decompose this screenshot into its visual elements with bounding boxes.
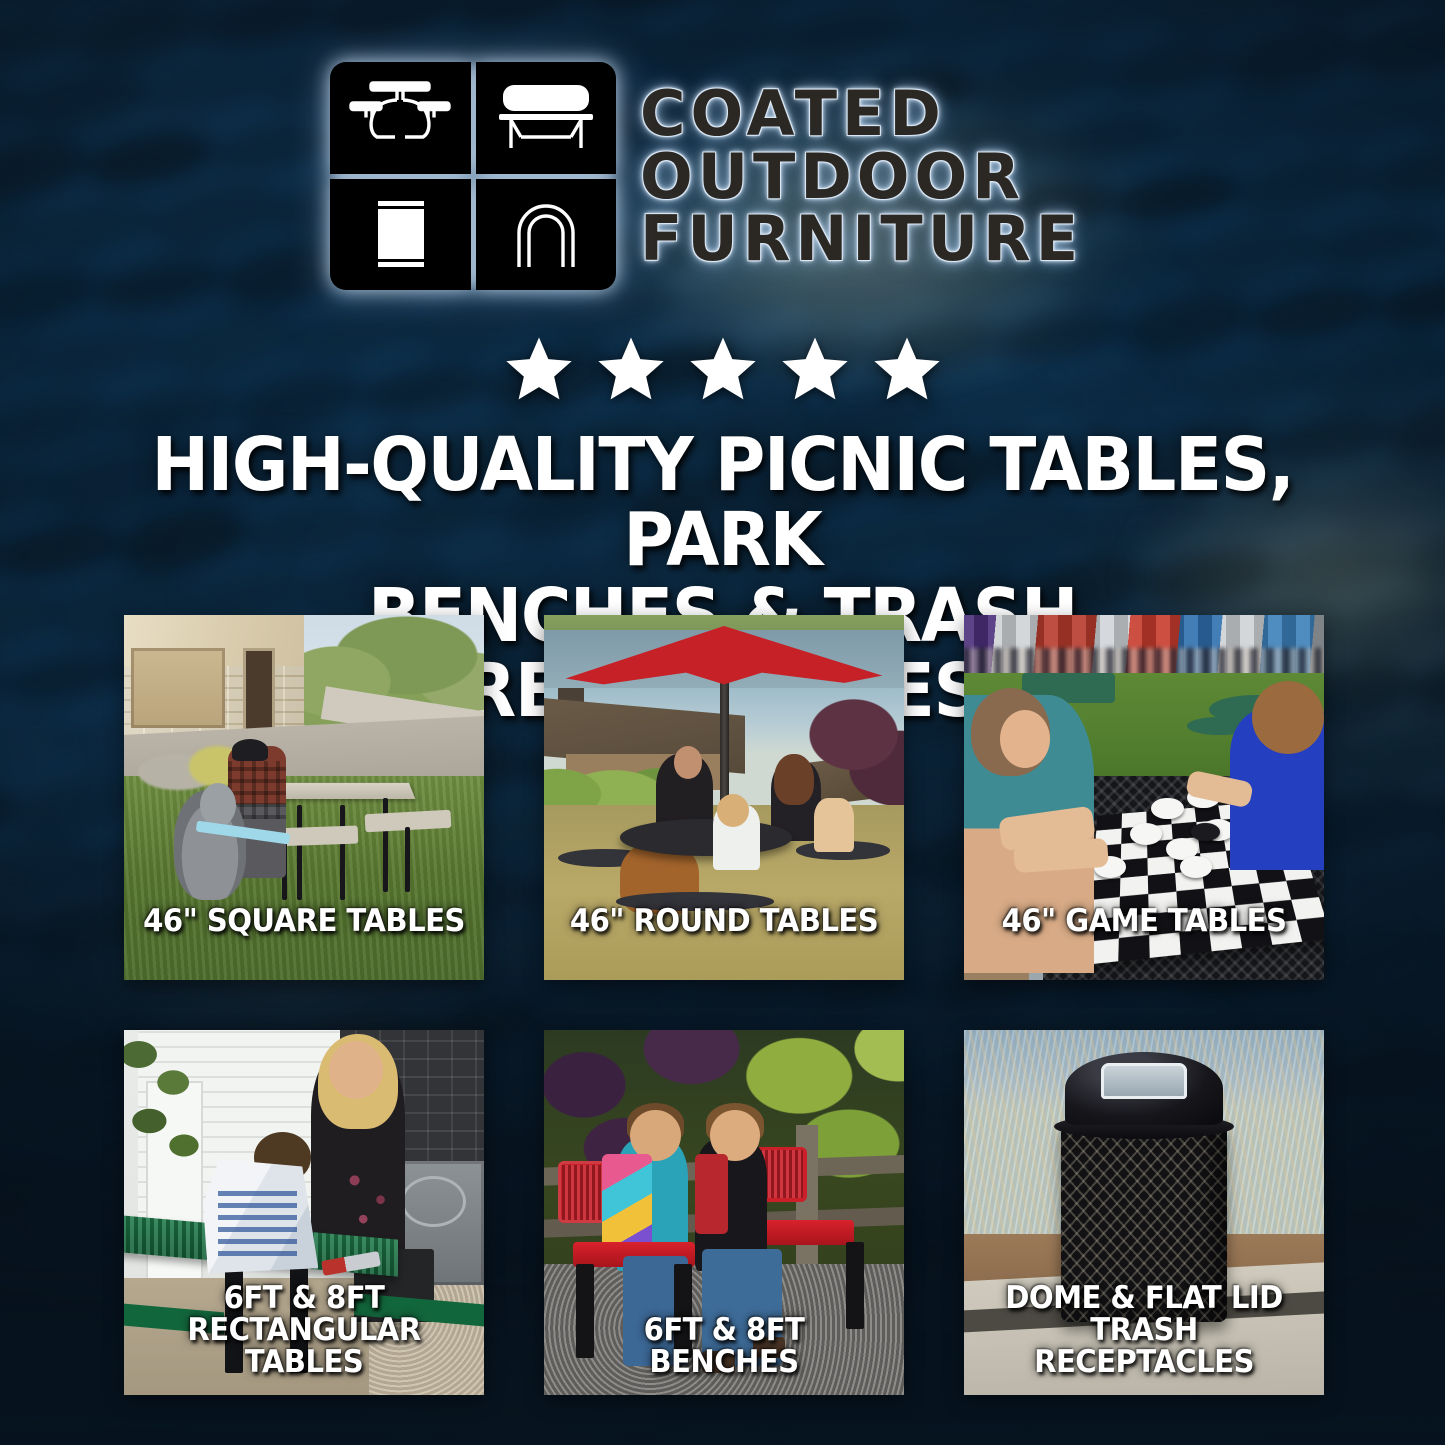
poster-content: COATED OUTDOOR FURNITURE HIGH-QUALITY PI… [0, 0, 1445, 1445]
picnic-table-icon [330, 62, 471, 174]
product-tile-game-tables[interactable]: 46" GAME TABLES [964, 615, 1324, 980]
product-tile-trash-receptacles[interactable]: DOME & FLAT LID TRASH RECEPTACLES [964, 1030, 1324, 1395]
product-grid: 46" SQUARE TABLES [124, 615, 1323, 1395]
wordmark-line-1: COATED [640, 84, 1083, 145]
star-icon [778, 334, 852, 404]
product-tile-rectangular-tables[interactable]: 6FT & 8FT RECTANGULAR TABLES [124, 1030, 484, 1395]
park-bench-icon [476, 62, 617, 174]
product-caption: 6FT & 8FT BENCHES [555, 1315, 893, 1379]
product-caption: 46" SQUARE TABLES [135, 906, 473, 938]
product-caption: 6FT & 8FT RECTANGULAR TABLES [135, 1283, 473, 1379]
logo-icon-grid [330, 62, 616, 290]
brand-logo: COATED OUTDOOR FURNITURE [330, 62, 1083, 290]
star-rating [0, 334, 1445, 404]
product-caption: DOME & FLAT LID TRASH RECEPTACLES [975, 1283, 1313, 1379]
trash-receptacle-icon [330, 179, 471, 291]
wordmark-line-2: OUTDOOR [640, 147, 1083, 208]
product-caption: 46" GAME TABLES [975, 906, 1313, 938]
star-icon [594, 334, 668, 404]
star-icon [870, 334, 944, 404]
headline-line-1: HIGH-QUALITY PICNIC TABLES, PARK [106, 428, 1338, 579]
bike-rack-icon [476, 179, 617, 291]
star-icon [502, 334, 576, 404]
product-tile-square-tables[interactable]: 46" SQUARE TABLES [124, 615, 484, 980]
product-tile-benches[interactable]: 6FT & 8FT BENCHES [544, 1030, 904, 1395]
product-caption: 46" ROUND TABLES [555, 906, 893, 938]
wordmark-line-3: FURNITURE [640, 209, 1083, 270]
brand-wordmark: COATED OUTDOOR FURNITURE [640, 82, 1083, 270]
product-tile-round-tables[interactable]: 46" ROUND TABLES [544, 615, 904, 980]
star-icon [686, 334, 760, 404]
